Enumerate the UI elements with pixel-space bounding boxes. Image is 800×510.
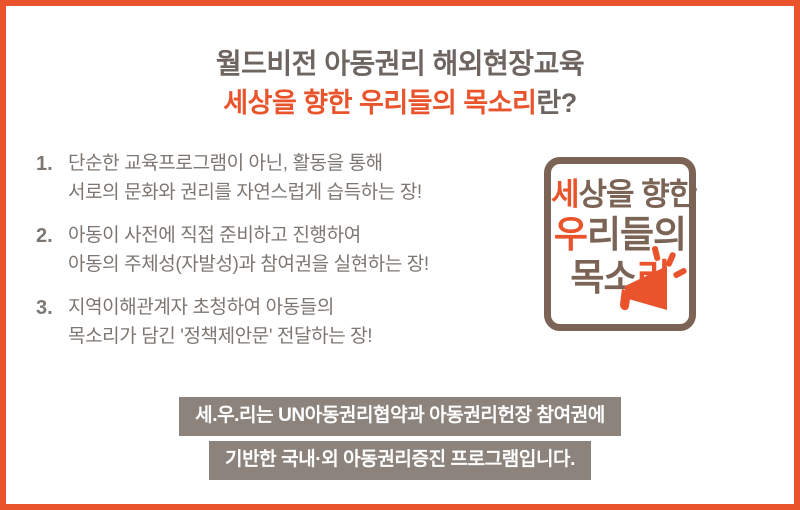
list-item: 2. 아동이 사전에 직접 준비하고 진행하여 아동의 주체성(자발성)과 참여…: [36, 221, 536, 280]
page-title-line-1: 월드비전 아동권리 해외현장교육: [6, 46, 794, 81]
list-item-line: 서로의 문화와 권리를 자연스럽게 습득하는 장!: [68, 178, 536, 207]
list-item-body: 단순한 교육프로그램이 아닌, 활동을 통해 서로의 문화와 권리를 자연스럽게…: [68, 149, 536, 208]
title-block: 월드비전 아동권리 해외현장교육 세상을 향한 우리들의 목소리란?: [6, 46, 794, 121]
list-item-body: 지역이해관계자 초청하여 아동들의 목소리가 담긴 '정책제안문' 전달하는 장…: [68, 293, 536, 352]
logo-line-1: 세상을 향한: [551, 179, 689, 210]
list-item: 1. 단순한 교육프로그램이 아닌, 활동을 통해 서로의 문화와 권리를 자연…: [36, 149, 536, 208]
banner-text-line-2: 기반한 국내·외 아동권리증진 프로그램입니다.: [209, 441, 591, 480]
logo-line-3: 목소리: [551, 259, 689, 296]
poster-frame: 월드비전 아동권리 해외현장교육 세상을 향한 우리들의 목소리란? 1. 단순…: [0, 0, 800, 510]
logo-accent-char: 리: [637, 257, 670, 298]
logo-accent-char: 우: [554, 214, 587, 255]
logo-base-text: 리들의: [587, 214, 686, 255]
logo-accent-char: 세: [551, 177, 579, 212]
list-item-number: 3.: [36, 293, 68, 324]
list-item: 3. 지역이해관계자 초청하여 아동들의 목소리가 담긴 '정책제안문' 전달하…: [36, 293, 536, 352]
list-item-line: 목소리가 담긴 '정책제안문' 전달하는 장!: [68, 322, 536, 351]
page-title-highlight: 세상을 향한 우리들의 목소리: [223, 88, 536, 118]
banner-row: 기반한 국내·외 아동권리증진 프로그램입니다.: [6, 441, 794, 480]
bottom-banner: 세.우.리는 UN아동권리협약과 아동권리헌장 참여권에 기반한 국내·외 아동…: [6, 397, 794, 480]
program-logo-badge: 세상을 향한 우리들의 목소리: [544, 157, 696, 331]
list-item-line: 아동이 사전에 직접 준비하고 진행하여: [68, 221, 536, 250]
points-list: 1. 단순한 교육프로그램이 아닌, 활동을 통해 서로의 문화와 권리를 자연…: [36, 149, 536, 365]
logo-base-text: 목소: [570, 257, 636, 298]
banner-text-line-1: 세.우.리는 UN아동권리협약과 아동권리헌장 참여권에: [179, 397, 621, 436]
list-item-number: 1.: [36, 149, 68, 180]
list-item-line: 아동의 주체성(자발성)과 참여권을 실현하는 장!: [68, 250, 536, 279]
page-title-line-2: 세상을 향한 우리들의 목소리란?: [6, 86, 794, 121]
list-item-number: 2.: [36, 221, 68, 252]
list-item-line: 단순한 교육프로그램이 아닌, 활동을 통해: [68, 149, 536, 178]
banner-row: 세.우.리는 UN아동권리협약과 아동권리헌장 참여권에: [6, 397, 794, 436]
page-title-suffix: 란?: [536, 88, 576, 118]
list-item-body: 아동이 사전에 직접 준비하고 진행하여 아동의 주체성(자발성)과 참여권을 …: [68, 221, 536, 280]
logo-base-text: 상을 향한: [579, 177, 697, 212]
logo-line-2: 우리들의: [551, 216, 689, 253]
list-item-line: 지역이해관계자 초청하여 아동들의: [68, 293, 536, 322]
